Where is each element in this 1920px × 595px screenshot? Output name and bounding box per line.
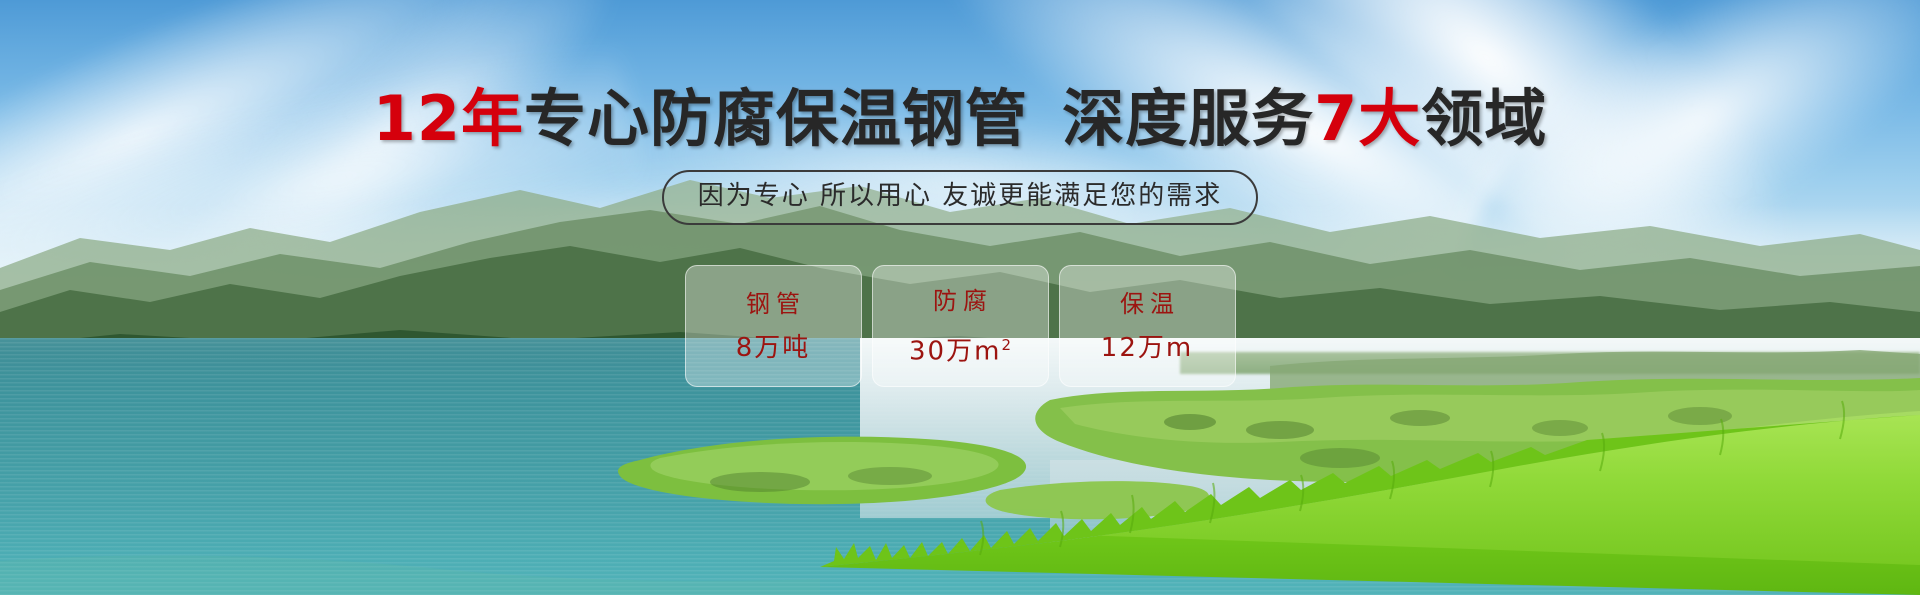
stat-label: 钢管	[740, 289, 806, 319]
stat-card-anticorrosion[interactable]: 防腐 30万m2	[872, 265, 1049, 387]
stat-label: 保温	[1114, 289, 1180, 319]
stat-value: 30万m2	[909, 330, 1011, 367]
stat-value: 12万m	[1101, 333, 1193, 363]
stat-card-insulation[interactable]: 保温 12万m	[1059, 265, 1236, 387]
stat-value-text: 12万m	[1101, 333, 1193, 363]
stat-card-group: 钢管 8万吨 防腐 30万m2 保温 12万m	[0, 265, 1920, 387]
stat-value: 8万吨	[736, 333, 811, 363]
headline-service: 深度服务	[1062, 82, 1314, 155]
stat-card-steel-pipe[interactable]: 钢管 8万吨	[685, 265, 862, 387]
foreground-grass	[0, 355, 1920, 595]
stat-value-text: 30万m	[909, 336, 1001, 366]
headline-seven: 7大	[1314, 82, 1421, 155]
headline-fields: 领域	[1421, 82, 1547, 155]
stat-value-exponent: 2	[1001, 336, 1011, 354]
headline-years: 12年	[373, 82, 524, 155]
subtitle-pill: 因为专心 所以用心 友诚更能满足您的需求	[662, 170, 1259, 225]
stat-value-text: 8万吨	[736, 333, 811, 363]
stat-label: 防腐	[927, 286, 993, 316]
hero-banner: 12年专心防腐保温钢管深度服务7大领域 因为专心 所以用心 友诚更能满足您的需求…	[0, 0, 1920, 595]
headline-main: 专心防腐保温钢管	[524, 82, 1028, 155]
page-title: 12年专心防腐保温钢管深度服务7大领域	[0, 84, 1920, 154]
subtitle-container: 因为专心 所以用心 友诚更能满足您的需求	[0, 170, 1920, 225]
